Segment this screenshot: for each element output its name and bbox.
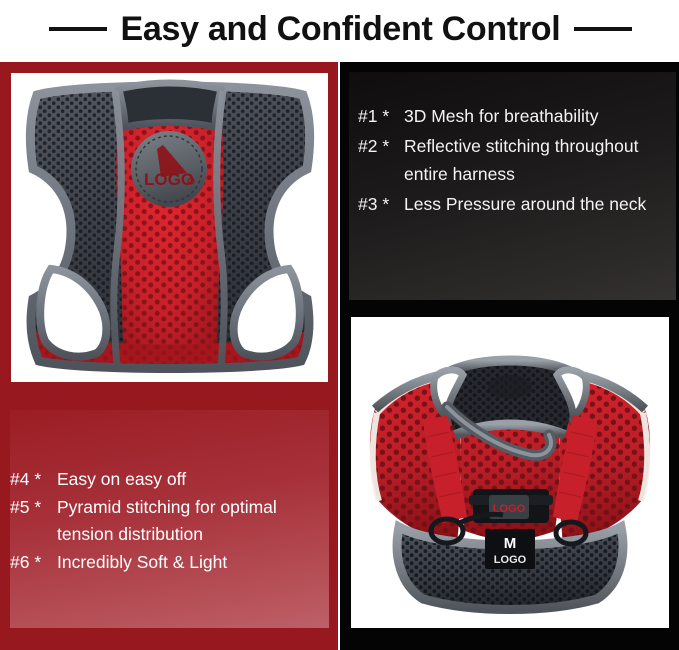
- list-item-tag: #6 *: [10, 549, 57, 576]
- photo-frame-back-view: LOGO M LOGO: [340, 303, 679, 650]
- size-label-value: M: [504, 535, 517, 552]
- infographic-page: Easy and Confident Control: [0, 0, 679, 650]
- header-rule-left-icon: [49, 27, 107, 31]
- features-panel-red: #4 * Easy on easy off #5 * Pyramid stitc…: [0, 393, 338, 650]
- list-item: #2 * Reflective stitching throughout ent…: [358, 132, 676, 188]
- logo-patch-text: LOGO: [144, 170, 194, 189]
- list-item-text: Less Pressure around the neck: [404, 190, 676, 218]
- list-item-text: Pyramid stitching for optimal tension di…: [57, 494, 330, 548]
- product-photo-back-view: LOGO M LOGO: [351, 317, 669, 628]
- list-item: #3 * Less Pressure around the neck: [358, 190, 676, 218]
- list-item-tag: #5 *: [10, 494, 57, 548]
- list-item-text: 3D Mesh for breathability: [404, 102, 676, 130]
- page-title: Easy and Confident Control: [121, 10, 561, 48]
- size-label: M LOGO: [485, 529, 535, 569]
- list-item: #5 * Pyramid stitching for optimal tensi…: [10, 494, 330, 548]
- header-rule-right-icon: [574, 27, 632, 31]
- size-label-brand: LOGO: [494, 554, 527, 566]
- product-photo-front-view: LOGO: [11, 73, 328, 382]
- list-item-tag: #4 *: [10, 466, 57, 493]
- list-item-text: Incredibly Soft & Light: [57, 549, 330, 576]
- list-item: #1 * 3D Mesh for breathability: [358, 102, 676, 130]
- harness-front-illustration: LOGO: [11, 73, 328, 382]
- features-list-dark: #1 * 3D Mesh for breathability #2 * Refl…: [358, 102, 676, 220]
- features-panel-dark: #1 * 3D Mesh for breathability #2 * Refl…: [340, 62, 679, 303]
- list-item: #4 * Easy on easy off: [10, 466, 330, 493]
- list-item-tag: #3 *: [358, 190, 404, 218]
- list-item-text: Easy on easy off: [57, 466, 330, 493]
- list-item-text: Reflective stitching throughout entire h…: [404, 132, 676, 188]
- photo-frame-front-view: LOGO: [0, 62, 338, 393]
- list-item-tag: #1 *: [358, 102, 404, 130]
- logo-patch: LOGO: [131, 131, 207, 207]
- harness-back-illustration: LOGO M LOGO: [351, 317, 669, 628]
- list-item: #6 * Incredibly Soft & Light: [10, 549, 330, 576]
- features-list-red: #4 * Easy on easy off #5 * Pyramid stitc…: [10, 466, 330, 577]
- list-item-tag: #2 *: [358, 132, 404, 188]
- page-header: Easy and Confident Control: [0, 0, 679, 58]
